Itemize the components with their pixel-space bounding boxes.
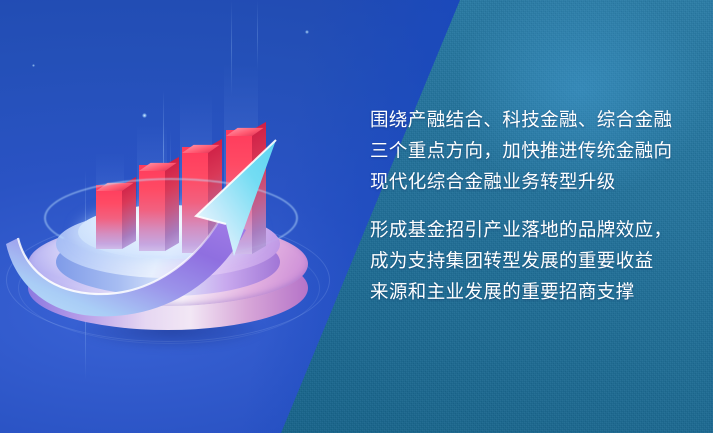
paragraph-2-line-3: 来源和主业发展的重要招商支撑 — [370, 276, 690, 307]
growth-arrow — [0, 120, 340, 330]
paragraph-1: 围绕产融结合、科技金融、综合金融 三个重点方向，加快推进传统金融向 现代化综合金… — [370, 104, 690, 197]
paragraph-1-line-2: 三个重点方向，加快推进传统金融向 — [370, 135, 690, 166]
banner-copy: 围绕产融结合、科技金融、综合金融 三个重点方向，加快推进传统金融向 现代化综合金… — [370, 104, 690, 307]
paragraph-1-line-3: 现代化综合金融业务转型升级 — [370, 166, 690, 197]
growth-chart-illustration — [0, 0, 340, 433]
paragraph-2-line-1: 形成基金招引产业落地的品牌效应， — [370, 214, 690, 245]
promo-banner: 围绕产融结合、科技金融、综合金融 三个重点方向，加快推进传统金融向 现代化综合金… — [0, 0, 713, 433]
arrow-ribbon — [6, 216, 246, 316]
paragraph-spacer — [370, 197, 690, 214]
paragraph-2: 形成基金招引产业落地的品牌效应， 成为支持集团转型发展的重要收益 来源和主业发展… — [370, 214, 690, 307]
paragraph-2-line-2: 成为支持集团转型发展的重要收益 — [370, 245, 690, 276]
paragraph-1-line-1: 围绕产融结合、科技金融、综合金融 — [370, 104, 690, 135]
